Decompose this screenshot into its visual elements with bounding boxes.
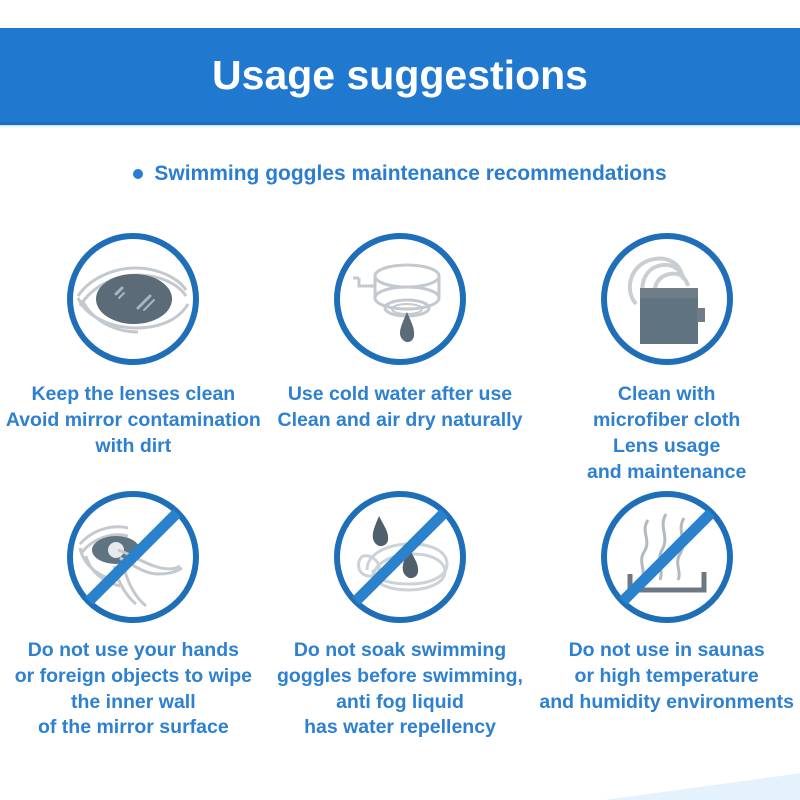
caption-line: Do not use your hands — [15, 638, 252, 664]
caption-line: Do not soak swimming — [277, 638, 523, 664]
caption-line: anti fog liquid — [277, 690, 523, 716]
caption-line: with dirt — [6, 434, 261, 460]
caption-line: Keep the lenses clean — [6, 382, 261, 408]
goggles-lens-icon — [62, 228, 204, 370]
caption-line: or foreign objects to wipe — [15, 664, 252, 690]
caption-line: and humidity environments — [539, 690, 794, 716]
section-heading-label: Swimming goggles maintenance recommendat… — [154, 162, 666, 186]
caption-line: Avoid mirror contamination — [6, 408, 261, 434]
tips-grid: Keep the lenses clean Avoid mirror conta… — [0, 228, 800, 741]
caption-line: of the mirror surface — [15, 715, 252, 741]
tip-card-no-sauna-use: Do not use in saunas or high temperature… — [533, 486, 800, 742]
banner-underline — [0, 125, 800, 128]
tip-caption: Use cold water after use Clean and air d… — [278, 382, 523, 434]
caption-line: microfiber cloth — [587, 408, 746, 434]
goggles-water-drops-icon — [329, 486, 471, 628]
tip-card-use-cold-water: Use cold water after use Clean and air d… — [267, 228, 534, 486]
tip-caption: Do not use in saunas or high temperature… — [539, 638, 794, 716]
tip-caption: Keep the lenses clean Avoid mirror conta… — [6, 382, 261, 460]
sauna-steam-icon — [596, 486, 738, 628]
caption-line: Clean and air dry naturally — [278, 408, 523, 434]
section-heading: Swimming goggles maintenance recommendat… — [0, 162, 800, 186]
tip-card-clean-with-microfiber-cloth: Clean with microfiber cloth Lens usage a… — [533, 228, 800, 486]
hand-wiping-goggles-icon — [62, 486, 204, 628]
tip-card-no-soaking-goggles: Do not soak swimming goggles before swim… — [267, 486, 534, 742]
tip-card-keep-lenses-clean: Keep the lenses clean Avoid mirror conta… — [0, 228, 267, 486]
caption-line: has water repellency — [277, 715, 523, 741]
caption-line: Do not use in saunas — [539, 638, 794, 664]
faucet-water-drop-icon — [329, 228, 471, 370]
tip-card-no-hands-on-inner-wall: Do not use your hands or foreign objects… — [0, 486, 267, 742]
page-banner: Usage suggestions — [0, 28, 800, 122]
page-title: Usage suggestions — [212, 55, 588, 96]
caption-line: and maintenance — [587, 460, 746, 486]
caption-line: Clean with — [587, 382, 746, 408]
caption-line: goggles before swimming, — [277, 664, 523, 690]
tip-caption: Clean with microfiber cloth Lens usage a… — [587, 382, 746, 486]
corner-wedge-decoration — [580, 770, 800, 800]
goggles-pouch-icon — [596, 228, 738, 370]
bullet-dot-icon — [133, 169, 143, 179]
tip-caption: Do not use your hands or foreign objects… — [15, 638, 252, 742]
caption-line: or high temperature — [539, 664, 794, 690]
caption-line: Use cold water after use — [278, 382, 523, 408]
caption-line: Lens usage — [587, 434, 746, 460]
caption-line: the inner wall — [15, 690, 252, 716]
tip-caption: Do not soak swimming goggles before swim… — [277, 638, 523, 742]
